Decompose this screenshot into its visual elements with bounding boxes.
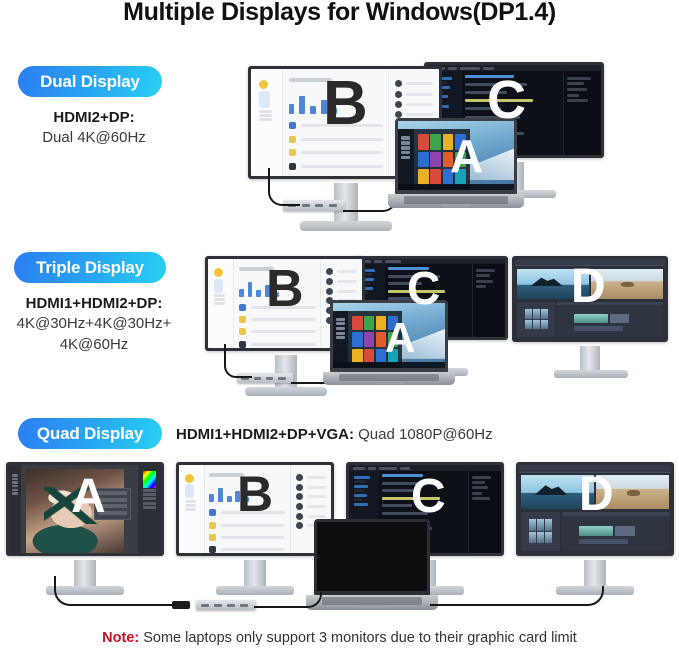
quad-resolution: Quad 1080P@60Hz — [354, 426, 493, 443]
dual-ports: HDMI2+DP: — [0, 108, 188, 128]
screen-letter-c: C — [407, 265, 440, 311]
dual-resolution: Dual 4K@60Hz — [0, 128, 188, 148]
screen-letter-d: D — [579, 471, 614, 519]
note-text: Note: Some laptops only support 3 monito… — [0, 630, 679, 646]
screen-letter-c: C — [487, 73, 526, 127]
cable-dual-left — [268, 168, 300, 206]
spec-dual-display: HDMI2+DP: Dual 4K@60Hz — [0, 108, 188, 149]
infographic-page: Multiple Displays for Windows(DP1.4) Dua… — [0, 0, 679, 659]
screen-letter-b: B — [323, 73, 368, 135]
triple-ports: HDMI1+HDMI2+DP: — [0, 294, 188, 314]
spec-triple-display: HDMI1+HDMI2+DP: 4K@30Hz+4K@30Hz+ 4K@60Hz — [0, 294, 188, 355]
screen-letter-a: A — [450, 133, 483, 179]
screen-letter-c: C — [411, 473, 446, 521]
cable-quad-far-right — [430, 586, 604, 606]
screen-letter-d: D — [571, 263, 606, 311]
spec-quad-display: HDMI1+HDMI2+DP+VGA: Quad 1080P@60Hz — [176, 424, 596, 446]
cable-quad-left — [54, 576, 176, 606]
note-prefix: Note: — [102, 630, 139, 646]
screen-letter-a: A — [71, 473, 106, 521]
cable-quad-right — [254, 592, 322, 608]
quad-ports: HDMI1+HDMI2+DP+VGA: — [176, 426, 354, 443]
screen-letter-b: B — [237, 469, 273, 519]
badge-quad-display: Quad Display — [18, 418, 162, 449]
badge-triple-display: Triple Display — [14, 252, 166, 283]
usb-hub-quad — [196, 600, 256, 610]
page-title: Multiple Displays for Windows(DP1.4) — [0, 0, 679, 27]
triple-resolution-line1: 4K@30Hz+4K@30Hz+ — [0, 314, 188, 334]
screen-letter-b: B — [266, 263, 304, 315]
cable-triple-left — [224, 344, 252, 378]
triple-resolution-line2: 4K@60Hz — [0, 335, 188, 355]
badge-dual-display: Dual Display — [18, 66, 162, 97]
screen-letter-a: A — [385, 317, 415, 359]
note-body: Some laptops only support 3 monitors due… — [139, 630, 577, 646]
